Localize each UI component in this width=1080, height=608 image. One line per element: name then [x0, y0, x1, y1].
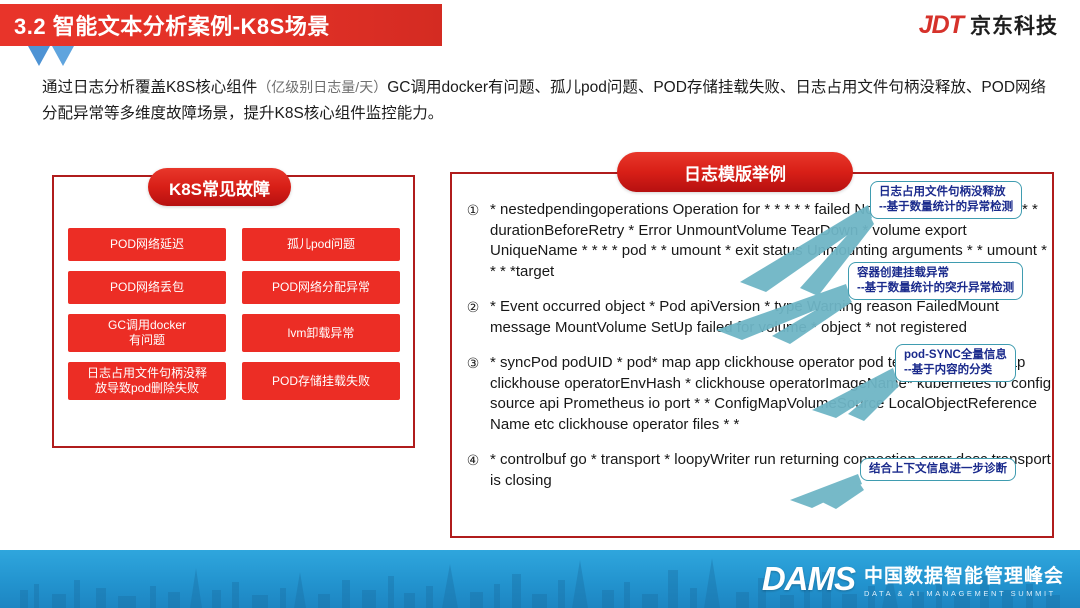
- failure-item[interactable]: POD存储挂载失败: [242, 362, 400, 400]
- intro-parenthetical: （亿级别日志量/天）: [257, 79, 387, 95]
- dams-wordmark: DAMS: [762, 560, 855, 598]
- failure-item[interactable]: POD网络延迟: [68, 228, 226, 261]
- callout-line-2: --基于数量统计的突升异常检测: [857, 281, 1014, 296]
- dams-subtitle-group: 中国数据智能管理峰会 DATA & AI MANAGEMENT SUMMIT: [864, 561, 1064, 598]
- dams-name-cn: 中国数据智能管理峰会: [864, 561, 1064, 588]
- brand-logo: JDT 京东科技: [919, 10, 1058, 40]
- page-title: 3.2 智能文本分析案例-K8S场景: [0, 9, 330, 41]
- footer-banner: DAMS 中国数据智能管理峰会 DATA & AI MANAGEMENT SUM…: [0, 550, 1080, 608]
- dams-name-en: DATA & AI MANAGEMENT SUMMIT: [864, 589, 1064, 598]
- failure-item[interactable]: lvm卸载异常: [242, 314, 400, 352]
- log-entry-number: ③: [456, 353, 490, 435]
- callout-line-1: pod-SYNC全量信息: [904, 348, 1007, 363]
- dams-logo: DAMS 中国数据智能管理峰会 DATA & AI MANAGEMENT SUM…: [762, 560, 1064, 598]
- callout-line-1: 日志占用文件句柄没释放: [879, 185, 1013, 200]
- log-template-title: 日志模版举例: [617, 152, 853, 192]
- log-entry-text: * Event occurred object * Pod apiVersion…: [490, 297, 1052, 338]
- log-entry-number: ②: [456, 297, 490, 338]
- failure-item[interactable]: 日志占用文件句柄没释放导致pod删除失败: [68, 362, 226, 400]
- logo-mark: JDT: [919, 11, 963, 40]
- callout-line-2: --基于内容的分类: [904, 363, 1007, 378]
- blue-wedge-decoration: [28, 46, 74, 68]
- failure-item[interactable]: POD网络丢包: [68, 271, 226, 304]
- intro-paragraph: 通过日志分析覆盖K8S核心组件（亿级别日志量/天）GC调用docker有问题、孤…: [42, 74, 1054, 127]
- log-entry-number: ④: [456, 450, 490, 491]
- failure-item[interactable]: 孤儿pod问题: [242, 228, 400, 261]
- log-entry-number: ①: [456, 200, 490, 282]
- intro-part-1: 通过日志分析覆盖K8S核心组件: [42, 79, 257, 96]
- slide-root: 3.2 智能文本分析案例-K8S场景 JDT 京东科技 通过日志分析覆盖K8S核…: [0, 0, 1080, 608]
- k8s-failures-title: K8S常见故障: [148, 168, 291, 206]
- callout-box: 结合上下文信息进一步诊断: [860, 458, 1016, 481]
- callout-box: pod-SYNC全量信息 --基于内容的分类: [895, 344, 1016, 382]
- slide-title-bar: 3.2 智能文本分析案例-K8S场景: [0, 4, 442, 46]
- callout-line-1: 容器创建挂载异常: [857, 266, 1014, 281]
- callout-box: 日志占用文件句柄没释放 --基于数量统计的异常检测: [870, 181, 1022, 219]
- log-entry: ② * Event occurred object * Pod apiVersi…: [456, 297, 1052, 338]
- failure-item[interactable]: POD网络分配异常: [242, 271, 400, 304]
- logo-company-name: 京东科技: [970, 10, 1058, 40]
- callout-line-1: 结合上下文信息进一步诊断: [869, 462, 1007, 477]
- callout-box: 容器创建挂载异常 --基于数量统计的突升异常检测: [848, 262, 1023, 300]
- callout-line-2: --基于数量统计的异常检测: [879, 200, 1013, 215]
- failure-item[interactable]: GC调用docker有问题: [68, 314, 226, 352]
- k8s-failure-grid: POD网络延迟 孤儿pod问题 POD网络丢包 POD网络分配异常 GC调用do…: [68, 228, 400, 400]
